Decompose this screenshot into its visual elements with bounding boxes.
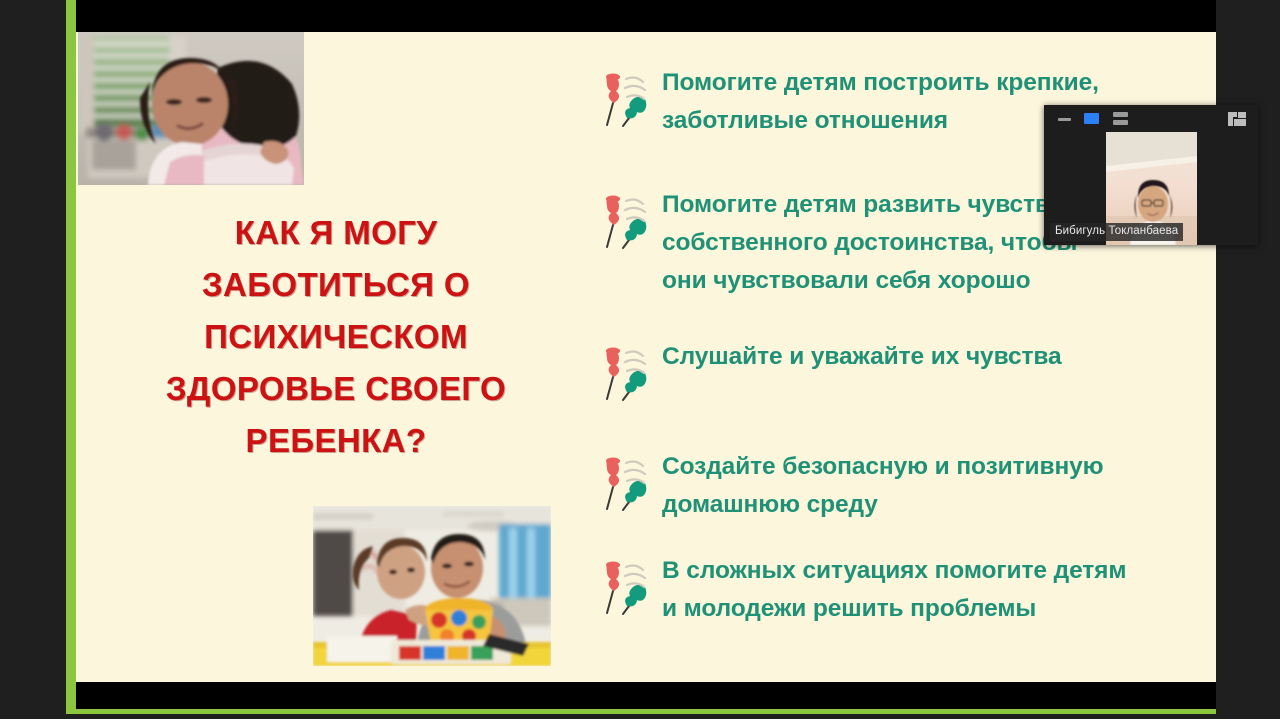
pushpins-icon bbox=[596, 450, 652, 520]
screen-root: КАК Я МОГУ ЗАБОТИТЬСЯ О ПСИХИЧЕСКОМ ЗДОР… bbox=[0, 0, 1280, 719]
list-item-line: В сложных ситуациях помогите детям bbox=[662, 552, 1126, 590]
picture-in-picture-icon-glyph bbox=[1228, 112, 1246, 126]
list-item: В сложных ситуациях помогите детям и мол… bbox=[596, 552, 1156, 628]
list-item-line: заботливые отношения bbox=[662, 102, 1099, 140]
list-item-line: собственного достоинства, чтобы bbox=[662, 224, 1077, 262]
pushpins-icon-glyph bbox=[596, 188, 652, 258]
picture-in-picture-icon[interactable] bbox=[1228, 112, 1246, 126]
pushpins-icon-glyph bbox=[596, 554, 652, 624]
list-item: Создайте безопасную и позитивную домашню… bbox=[596, 448, 1156, 524]
list-item-line: Помогите детям развить чувство bbox=[662, 186, 1077, 224]
list-item-line: и молодежи решить проблемы bbox=[662, 590, 1126, 628]
slide-title-line: ПСИХИЧЕСКОМ bbox=[136, 311, 536, 363]
photo-father-and-child-playing bbox=[313, 506, 551, 666]
pushpins-icon bbox=[596, 340, 652, 410]
pushpins-icon bbox=[596, 554, 652, 624]
slide-title: КАК Я МОГУ ЗАБОТИТЬСЯ О ПСИХИЧЕСКОМ ЗДОР… bbox=[136, 207, 536, 467]
pushpins-icon-glyph bbox=[596, 450, 652, 520]
list-item-text: Слушайте и уважайте их чувства bbox=[662, 338, 1062, 376]
video-stage[interactable]: Бибигуль Токланбаева bbox=[1044, 132, 1258, 245]
list-item-line: Слушайте и уважайте их чувства bbox=[662, 338, 1062, 376]
list-item: Слушайте и уважайте их чувства bbox=[596, 338, 1156, 410]
pushpins-icon bbox=[596, 66, 652, 136]
photo-child-hugging-parent-image bbox=[78, 32, 304, 185]
list-item-line: Помогите детям построить крепкие, bbox=[662, 64, 1099, 102]
pushpins-icon-glyph bbox=[596, 340, 652, 410]
slide-title-line: КАК Я МОГУ bbox=[136, 207, 536, 259]
participant-name-label: Бибигуль Токланбаева bbox=[1050, 223, 1183, 241]
slide-title-line: ЗДОРОВЬЕ СВОЕГО bbox=[136, 363, 536, 415]
video-window-toolbar[interactable] bbox=[1044, 105, 1258, 132]
list-item-line: Создайте безопасную и позитивную bbox=[662, 448, 1104, 486]
video-camera-icon[interactable] bbox=[1084, 113, 1099, 124]
list-item-line: они чувствовали себя хорошо bbox=[662, 262, 1077, 300]
pushpins-icon-glyph bbox=[596, 66, 652, 136]
video-conference-window[interactable]: Бибигуль Токланбаева bbox=[1044, 105, 1258, 245]
photo-child-hugging-parent bbox=[78, 32, 304, 185]
list-item-text: В сложных ситуациях помогите детям и мол… bbox=[662, 552, 1126, 628]
pushpins-icon bbox=[596, 188, 652, 258]
slide-title-line: ЗАБОТИТЬСЯ О bbox=[136, 259, 536, 311]
list-item-text: Помогите детям построить крепкие, заботл… bbox=[662, 64, 1099, 140]
layout-stacked-icon[interactable] bbox=[1113, 112, 1128, 125]
slide-title-line: РЕБЕНКА? bbox=[136, 415, 536, 467]
photo-father-and-child-playing-image bbox=[313, 506, 551, 666]
list-item-text: Помогите детям развить чувство собственн… bbox=[662, 186, 1077, 300]
minimize-icon[interactable] bbox=[1058, 118, 1071, 121]
list-item-text: Создайте безопасную и позитивную домашню… bbox=[662, 448, 1104, 524]
list-item-line: домашнюю среду bbox=[662, 486, 1104, 524]
